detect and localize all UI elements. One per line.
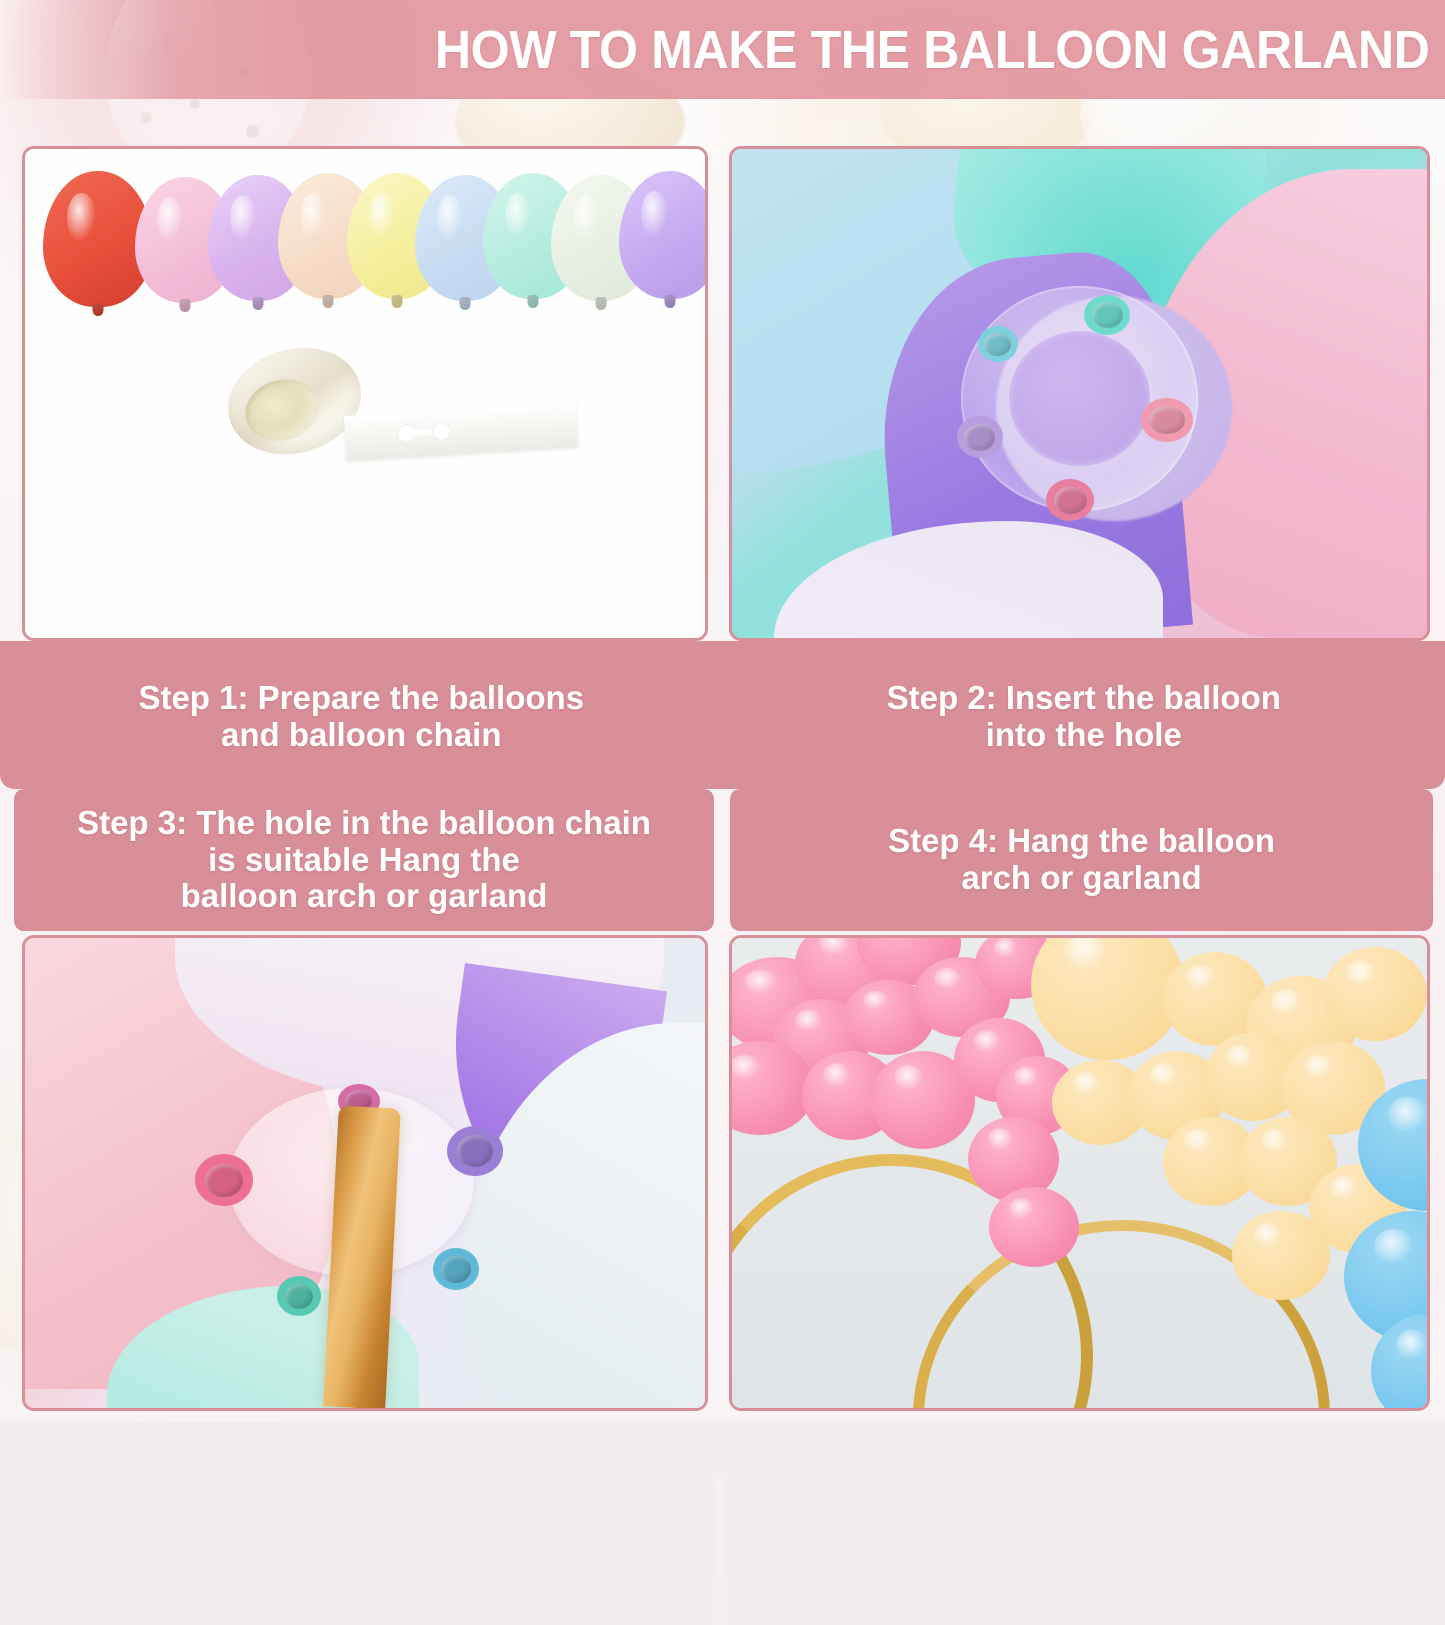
steps-row-bottom: Step 3: The hole in the balloon chain is… [0, 789, 1445, 1421]
balloon-highlight [505, 193, 531, 238]
step-4-label-line-1: Step 4: Hang the balloon [888, 823, 1275, 860]
balloon-ring-disc [961, 286, 1197, 511]
step-2-photo-content [732, 149, 1427, 638]
balloon-knot-lilac [957, 416, 1003, 458]
balloon-knot-rose [195, 1154, 253, 1206]
step-3-cell: Step 3: The hole in the balloon chain is… [0, 789, 722, 1421]
step-4-photo [729, 935, 1430, 1411]
step-4-cell: Step 4: Hang the balloon arch or garland [722, 789, 1445, 1421]
step-3-label-line-3: balloon arch or garland [77, 878, 651, 915]
balloon-chain-tape-strip [344, 402, 578, 460]
steps-row-top-labels: Step 1: Prepare the balloons and balloon… [0, 645, 1445, 789]
step-2-label-line-1: Step 2: Insert the balloon [887, 680, 1281, 717]
balloon-highlight [300, 193, 326, 238]
step-3-photo-content [25, 938, 705, 1408]
step-4-label-line-2: arch or garland [888, 860, 1275, 897]
garland-balloon-yellow [1031, 935, 1184, 1060]
step-1-label-line-2: and balloon chain [138, 717, 584, 754]
step-4-photo-content [732, 938, 1427, 1408]
bowtie-hole-icon [397, 422, 452, 443]
balloon-highlight [573, 195, 599, 240]
step-3-label-line-2: is suitable Hang the [77, 842, 651, 879]
garland-balloon-yellow [1323, 947, 1427, 1041]
page-title: HOW TO MAKE THE BALLOON GARLAND [434, 19, 1429, 81]
balloon-highlight [230, 195, 256, 240]
step-1-label-line-1: Step 1: Prepare the balloons [138, 680, 584, 717]
balloon-knot-teal [277, 1276, 321, 1316]
balloon-chain-tape-roll [227, 349, 362, 453]
balloon-knot-teal [1084, 295, 1130, 335]
balloon-knot-blue [433, 1248, 479, 1290]
step-3-photo [22, 935, 708, 1411]
step-2-label-line-2: into the hole [887, 717, 1281, 754]
balloon-highlight [641, 191, 668, 237]
garland-balloon-yellow [1232, 1211, 1329, 1300]
steps-row-top: Step 1: Prepare the balloons and balloon… [0, 99, 1445, 789]
steps-grid: Step 1: Prepare the balloons and balloon… [0, 99, 1445, 1421]
balloon-highlight [437, 195, 463, 240]
step-1-photo-content [25, 149, 705, 638]
ring-disc-center-hole [1009, 331, 1151, 466]
balloon-knot-purple [447, 1126, 503, 1176]
step-1-label: Step 1: Prepare the balloons and balloon… [0, 645, 723, 789]
balloon-highlight [157, 197, 183, 242]
balloon-highlight [369, 193, 395, 238]
step-1-photo [22, 146, 708, 641]
step-2-photo [729, 146, 1430, 641]
step-3-label: Step 3: The hole in the balloon chain is… [14, 789, 714, 931]
step-4-label: Step 4: Hang the balloon arch or garland [730, 789, 1433, 931]
step-3-label-line-1: Step 3: The hole in the balloon chain [77, 805, 651, 842]
bowtie-hole-right [431, 422, 451, 441]
balloon-highlight [67, 193, 96, 242]
header-banner: HOW TO MAKE THE BALLOON GARLAND [0, 0, 1445, 99]
garland-balloon-pink [989, 1187, 1079, 1267]
step-2-label: Step 2: Insert the balloon into the hole [723, 645, 1445, 789]
balloon-knot-pink [1141, 398, 1193, 442]
balloon-surface-white [774, 521, 1163, 641]
label-seam-divider [715, 1479, 723, 1625]
